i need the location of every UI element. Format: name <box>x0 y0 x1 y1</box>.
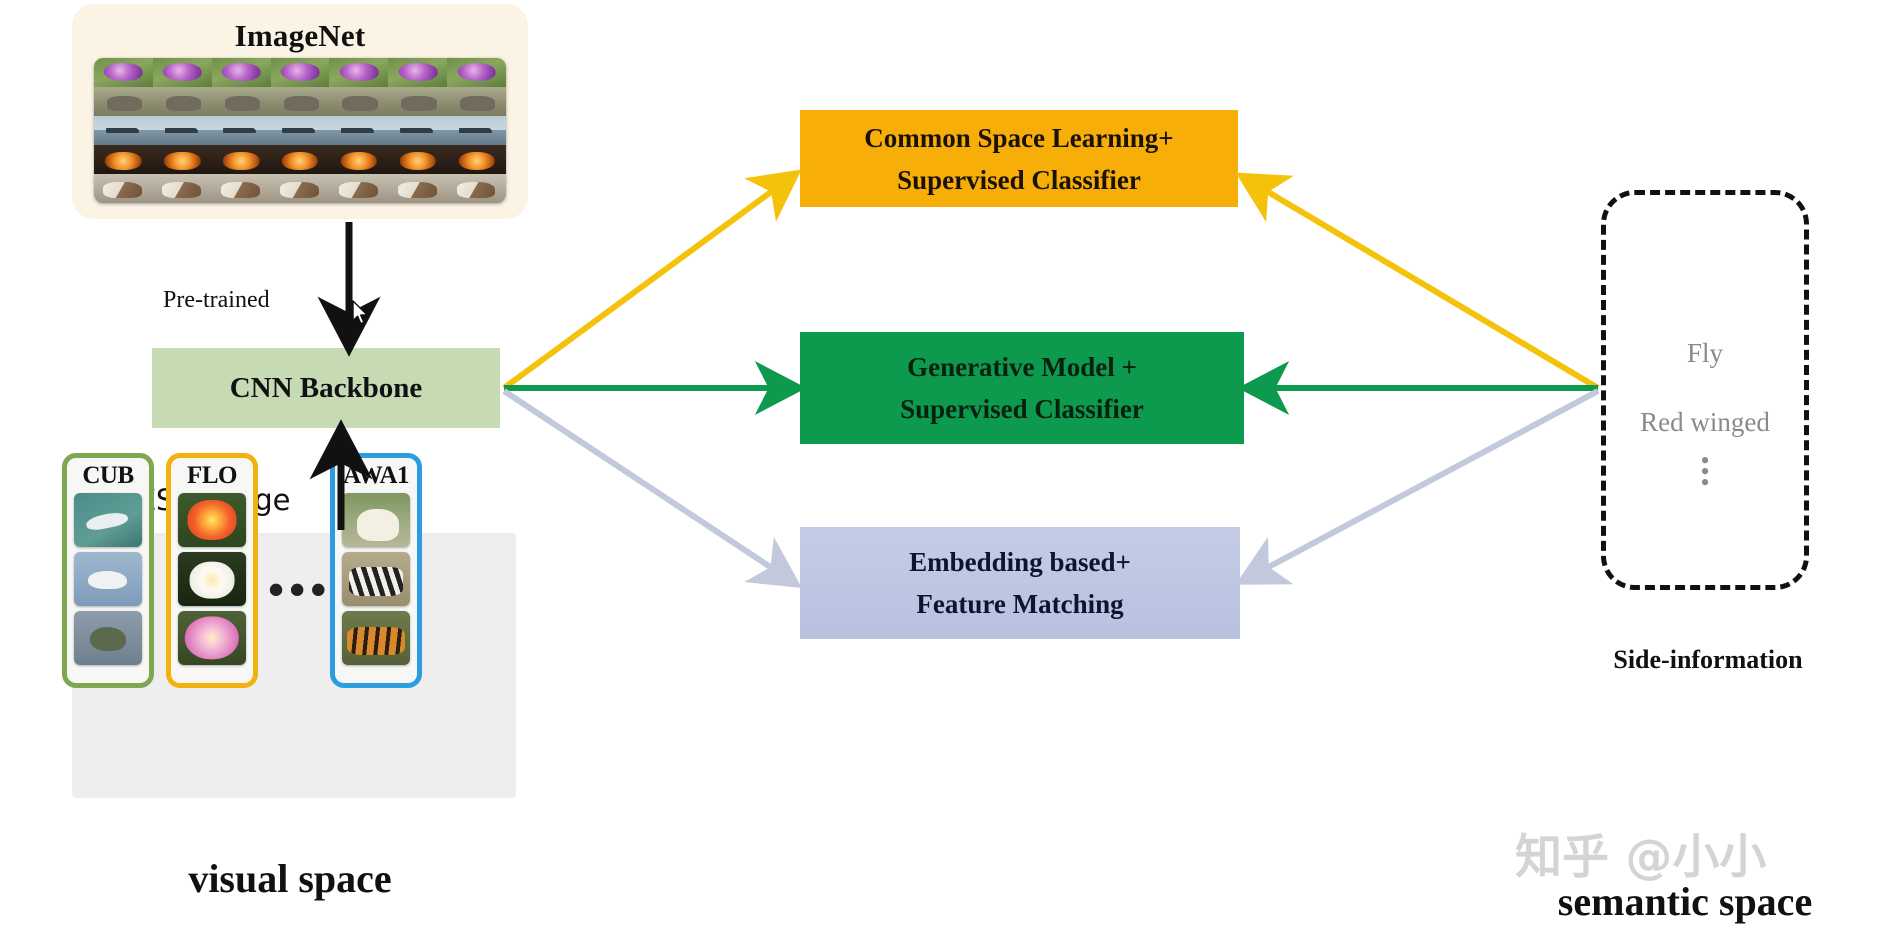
imagenet-thumb <box>388 58 447 87</box>
imagenet-thumb <box>94 116 153 145</box>
dataset-ellipsis: ••• <box>268 580 331 600</box>
imagenet-thumb <box>153 145 212 174</box>
imagenet-thumb <box>447 174 506 203</box>
imagenet-thumb <box>447 87 506 116</box>
dataset-thumb-flower-orange <box>178 493 246 547</box>
dataset-thumb-zebra <box>342 552 410 606</box>
dataset-card-awa1[interactable]: AWA1 <box>330 453 422 688</box>
side-attribute-red-winged: Red winged <box>1589 407 1821 438</box>
imagenet-thumb <box>329 58 388 87</box>
pre-trained-label: Pre-trained <box>163 287 270 314</box>
dataset-thumbnails <box>178 493 246 665</box>
zhihu-watermark: 知乎 @小小 <box>1515 818 1766 887</box>
arrow-side-to-common-space <box>1248 180 1598 388</box>
imagenet-thumbnail-grid <box>94 58 506 203</box>
imagenet-thumb <box>94 145 153 174</box>
dataset-card-cub[interactable]: CUB <box>62 453 154 688</box>
imagenet-thumb <box>271 116 330 145</box>
imagenet-title: ImageNet <box>72 18 528 54</box>
dataset-thumb-flower-white <box>178 552 246 606</box>
imagenet-thumb <box>271 145 330 174</box>
dataset-thumb-bird-1 <box>74 493 142 547</box>
imagenet-thumb <box>447 58 506 87</box>
method-line-1: Generative Model + <box>907 352 1137 382</box>
diagram-canvas: ImageNet <box>0 0 1893 947</box>
side-attribute-fly: Fly <box>1601 338 1809 369</box>
imagenet-thumb <box>212 145 271 174</box>
method-line-1: Common Space Learning+ <box>864 123 1173 153</box>
imagenet-thumb <box>212 116 271 145</box>
imagenet-thumb <box>153 116 212 145</box>
imagenet-thumb <box>388 116 447 145</box>
imagenet-thumb <box>153 58 212 87</box>
method-line-1: Embedding based+ <box>909 547 1131 577</box>
imagenet-thumb <box>153 174 212 203</box>
imagenet-thumb <box>447 116 506 145</box>
arrow-backbone-to-embedding <box>504 391 790 580</box>
method-box-generative[interactable]: Generative Model + Supervised Classifier <box>800 332 1244 444</box>
method-line-2: Feature Matching <box>916 589 1123 619</box>
imagenet-thumb <box>388 174 447 203</box>
dataset-thumb-tiger <box>342 611 410 665</box>
imagenet-thumb <box>94 87 153 116</box>
imagenet-thumb <box>388 145 447 174</box>
dataset-thumb-dog-white <box>342 493 410 547</box>
dataset-thumb-flower-pink <box>178 611 246 665</box>
arrow-side-to-embedding <box>1248 391 1598 578</box>
imagenet-thumb <box>329 116 388 145</box>
imagenet-thumb <box>329 145 388 174</box>
dataset-card-flo[interactable]: FLO <box>166 453 258 688</box>
mouse-cursor-icon <box>352 300 370 326</box>
dataset-thumb-bird-2 <box>74 552 142 606</box>
cnn-backbone-label: CNN Backbone <box>152 372 500 405</box>
dataset-card-title: FLO <box>171 461 253 491</box>
imagenet-thumb <box>94 58 153 87</box>
imagenet-thumb <box>388 87 447 116</box>
imagenet-thumb <box>329 87 388 116</box>
side-attribute-ellipsis-icon: ••• <box>1601 455 1809 488</box>
imagenet-thumb <box>153 87 212 116</box>
dataset-thumbnails <box>342 493 410 665</box>
dataset-card-title: AWA1 <box>335 461 417 491</box>
imagenet-thumb <box>271 174 330 203</box>
dataset-card-title: CUB <box>67 461 149 491</box>
method-line-2: Supervised Classifier <box>897 165 1141 195</box>
dataset-thumbnails <box>74 493 142 665</box>
visual-space-caption: visual space <box>60 855 520 902</box>
arrow-backbone-to-common-space <box>504 178 790 388</box>
method-line-2: Supervised Classifier <box>900 394 1144 424</box>
imagenet-thumb <box>329 174 388 203</box>
imagenet-thumb <box>447 145 506 174</box>
imagenet-thumb <box>271 58 330 87</box>
side-information-box <box>1601 190 1809 590</box>
imagenet-thumb <box>212 58 271 87</box>
imagenet-thumb <box>271 87 330 116</box>
side-information-label: Side-information <box>1558 645 1858 675</box>
imagenet-thumb <box>212 174 271 203</box>
method-box-embedding[interactable]: Embedding based+ Feature Matching <box>800 527 1240 639</box>
dataset-thumb-bird-3 <box>74 611 142 665</box>
method-box-common-space[interactable]: Common Space Learning+ Supervised Classi… <box>800 110 1238 207</box>
imagenet-thumb <box>212 87 271 116</box>
imagenet-thumb <box>94 174 153 203</box>
